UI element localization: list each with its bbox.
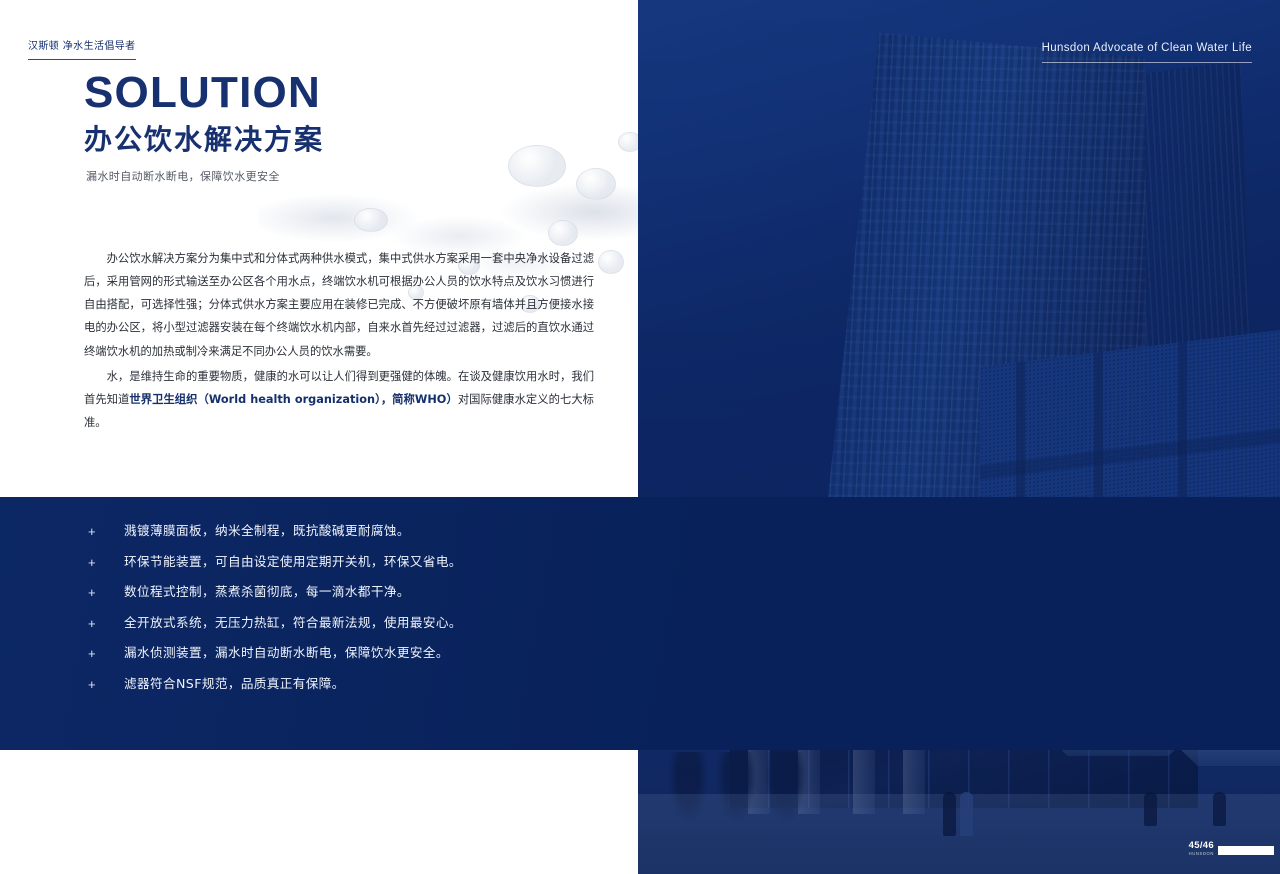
body-paragraph-2-bold: 世界卫生组织（World health organization），简称WHO） [129,393,457,406]
feature-text: 全开放式系统，无压力热缸，符合最新法规，使用最安心。 [124,614,462,633]
upper-blue-wash [638,0,1280,497]
feature-item: + 全开放式系统，无压力热缸，符合最新法规，使用最安心。 [88,614,628,634]
header-tagline: Hunsdon Advocate of Clean Water Life [1042,38,1252,63]
page-brand: HUNSDON [1189,851,1214,856]
feature-text: 漏水侦测装置，漏水时自动断水断电，保障饮水更安全。 [124,644,449,663]
feature-item: + 数位程式控制，蒸煮杀菌彻底，每一滴水都干净。 [88,583,628,603]
feature-text: 溅镀薄膜面板，纳米全制程，既抗酸碱更耐腐蚀。 [124,522,410,541]
plus-icon: + [88,522,124,542]
body-paragraph-2: 水，是维持生命的重要物质，健康的水可以让人们得到更强健的体魄。在谈及健康饮用水时… [84,365,594,434]
brand-logo-text: 汉斯顿 净水生活倡导者 [28,41,136,52]
page-number: 45/46 [1189,841,1214,851]
plus-icon: + [88,675,124,695]
body-copy: 办公饮水解决方案分为集中式和分体式两种供水模式，集中式供水方案采用一套中央净水设… [84,247,594,434]
plus-icon: + [88,614,124,634]
feature-item: + 环保节能装置，可自由设定使用定期开关机，环保又省电。 [88,553,628,573]
badge-bar [1218,846,1274,855]
features-band: + 溅镀薄膜面板，纳米全制程，既抗酸碱更耐腐蚀。 + 环保节能装置，可自由设定使… [0,497,1280,750]
feature-text: 滤器符合NSF规范，品质真正有保障。 [124,675,345,694]
page-badge: 45/46 HUNSDON [1189,841,1274,856]
header-tagline-text: Hunsdon Advocate of Clean Water Life [1042,42,1252,54]
bottom-white-area [0,750,638,874]
plus-icon: + [88,644,124,664]
plus-icon: + [88,583,124,603]
page-subtitle: 漏水时自动断水断电，保障饮水更安全 [86,168,280,184]
feature-text: 环保节能装置，可自由设定使用定期开关机，环保又省电。 [124,553,462,572]
feature-item: + 滤器符合NSF规范，品质真正有保障。 [88,675,628,695]
brand-logo: 汉斯顿 净水生活倡导者 [28,36,136,60]
page-title-chinese: 办公饮水解决方案 [84,118,324,158]
body-paragraph-1: 办公饮水解决方案分为集中式和分体式两种供水模式，集中式供水方案采用一套中央净水设… [84,247,594,363]
slide-page: Hunsdon Advocate of Clean Water Life 01 … [0,0,1280,874]
plus-icon: + [88,553,124,573]
feature-item: + 漏水侦测装置，漏水时自动断水断电，保障饮水更安全。 [88,644,628,664]
feature-item: + 溅镀薄膜面板，纳米全制程，既抗酸碱更耐腐蚀。 [88,522,628,542]
feature-text: 数位程式控制，蒸煮杀菌彻底，每一滴水都干净。 [124,583,410,602]
features-list: + 溅镀薄膜面板，纳米全制程，既抗酸碱更耐腐蚀。 + 环保节能装置，可自由设定使… [88,522,628,705]
page-title-english: SOLUTION [84,70,321,116]
left-content-panel: 汉斯顿 净水生活倡导者 SOLUTION 办公饮水解决方案 漏水时自动断水断电，… [0,0,638,497]
